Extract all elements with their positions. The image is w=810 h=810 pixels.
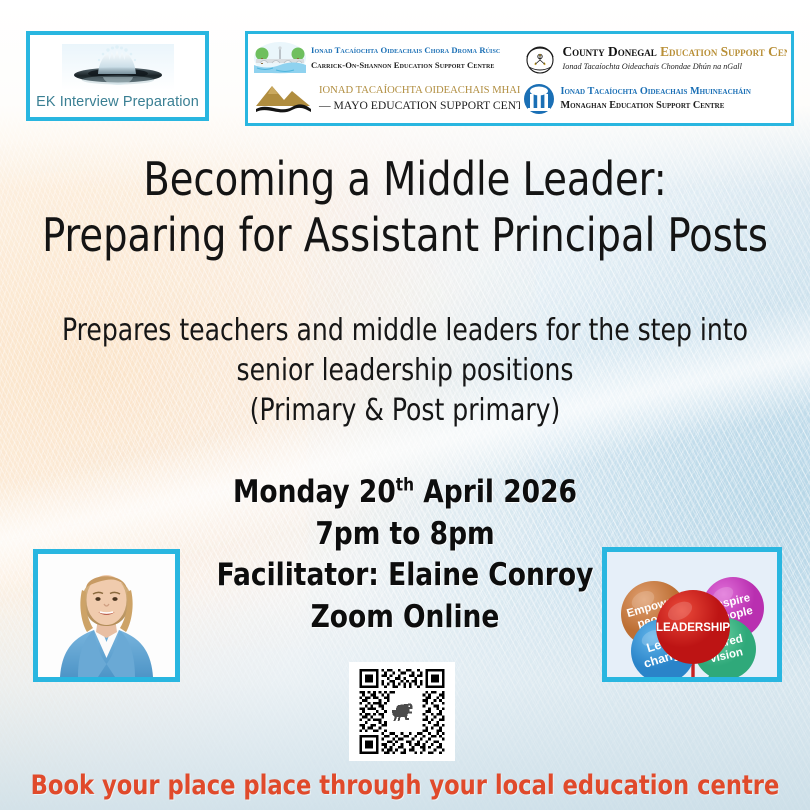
poster-title: Becoming a Middle Leader: Preparing for … xyxy=(28,152,781,263)
poster-description: Prepares teachers and middle leaders for… xyxy=(28,311,781,431)
education-centres-banner: Ionad Tacaíochta Oideachais Chora Droma … xyxy=(245,31,794,126)
centre-irish-name: Ionad Tacaíochta Oideachais Chora Droma … xyxy=(311,45,500,55)
centre-logo-monaghan: Ionad Tacaíochta Oideachais Mhuineacháin… xyxy=(520,79,788,121)
centre-english-name: — Mayo Education Support Centre — xyxy=(319,99,520,113)
title-line-2: Preparing for Assistant Principal Posts xyxy=(28,208,781,264)
centre-english-name: Carrick-On-Shannon Education Support Cen… xyxy=(311,60,500,70)
centre-name-dark: County Donegal xyxy=(563,44,657,59)
monaghan-pillars-icon xyxy=(522,82,556,116)
facilitator-photo xyxy=(33,549,180,682)
centre-logo-carrick-on-shannon: Ionad Tacaíochta Oideachais Chora Droma … xyxy=(252,37,520,79)
qr-code-image[interactable] xyxy=(353,666,451,757)
call-to-action-text: Book your place place through your local… xyxy=(20,770,790,801)
centre-logo-mayo: Ionad Tacaíochta Oideachais Mhaigh Eo — … xyxy=(252,79,520,121)
description-line-1: Prepares teachers and middle leaders for… xyxy=(28,311,781,351)
centre-irish-name: Ionad Tacaíochta Oideachais Mhaigh Eo xyxy=(319,85,520,98)
ek-brand-logo: EK Interview Preparation xyxy=(26,31,209,121)
event-date-suffix: April 2026 xyxy=(414,474,577,510)
mountain-icon xyxy=(254,82,314,116)
leadership-balloons-graphic: Empower people Inspire people Lead chang… xyxy=(602,547,782,682)
bridge-river-icon xyxy=(254,41,306,75)
poster-canvas: EK Interview Preparation Ionad Tacaíocht… xyxy=(0,0,810,810)
svg-text:LEADERSHIP: LEADERSHIP xyxy=(656,622,730,634)
ek-brand-caption: EK Interview Preparation xyxy=(30,94,205,110)
description-line-2: senior leadership positions xyxy=(28,351,781,391)
centre-name-gold: Education Support Centre xyxy=(660,44,787,59)
centre-irish-name: Ionad Tacaíochta Oideachais Chondae Dhún… xyxy=(563,62,788,72)
booking-qr-code[interactable] xyxy=(349,662,455,761)
event-date: Monday 20th April 2026 xyxy=(20,472,790,514)
centre-logo-county-donegal: County Donegal Education Support Centre … xyxy=(520,37,788,79)
portrait-illustration xyxy=(38,554,175,677)
title-line-1: Becoming a Middle Leader: xyxy=(28,152,781,208)
leadership-balloons-illustration: Empower people Inspire people Lead chang… xyxy=(607,552,777,677)
event-date-ordinal: th xyxy=(396,475,414,496)
donegal-crest-icon xyxy=(522,40,558,76)
centre-irish-name: Ionad Tacaíochta Oideachais Mhuineacháin xyxy=(561,86,751,98)
balloon-leadership: LEADERSHIP xyxy=(656,590,730,664)
water-crown-splash-icon xyxy=(62,44,174,90)
event-date-prefix: Monday 20 xyxy=(233,474,396,510)
centre-english-name: Monaghan Education Support Centre xyxy=(561,100,751,112)
description-line-3: (Primary & Post primary) xyxy=(28,391,781,431)
